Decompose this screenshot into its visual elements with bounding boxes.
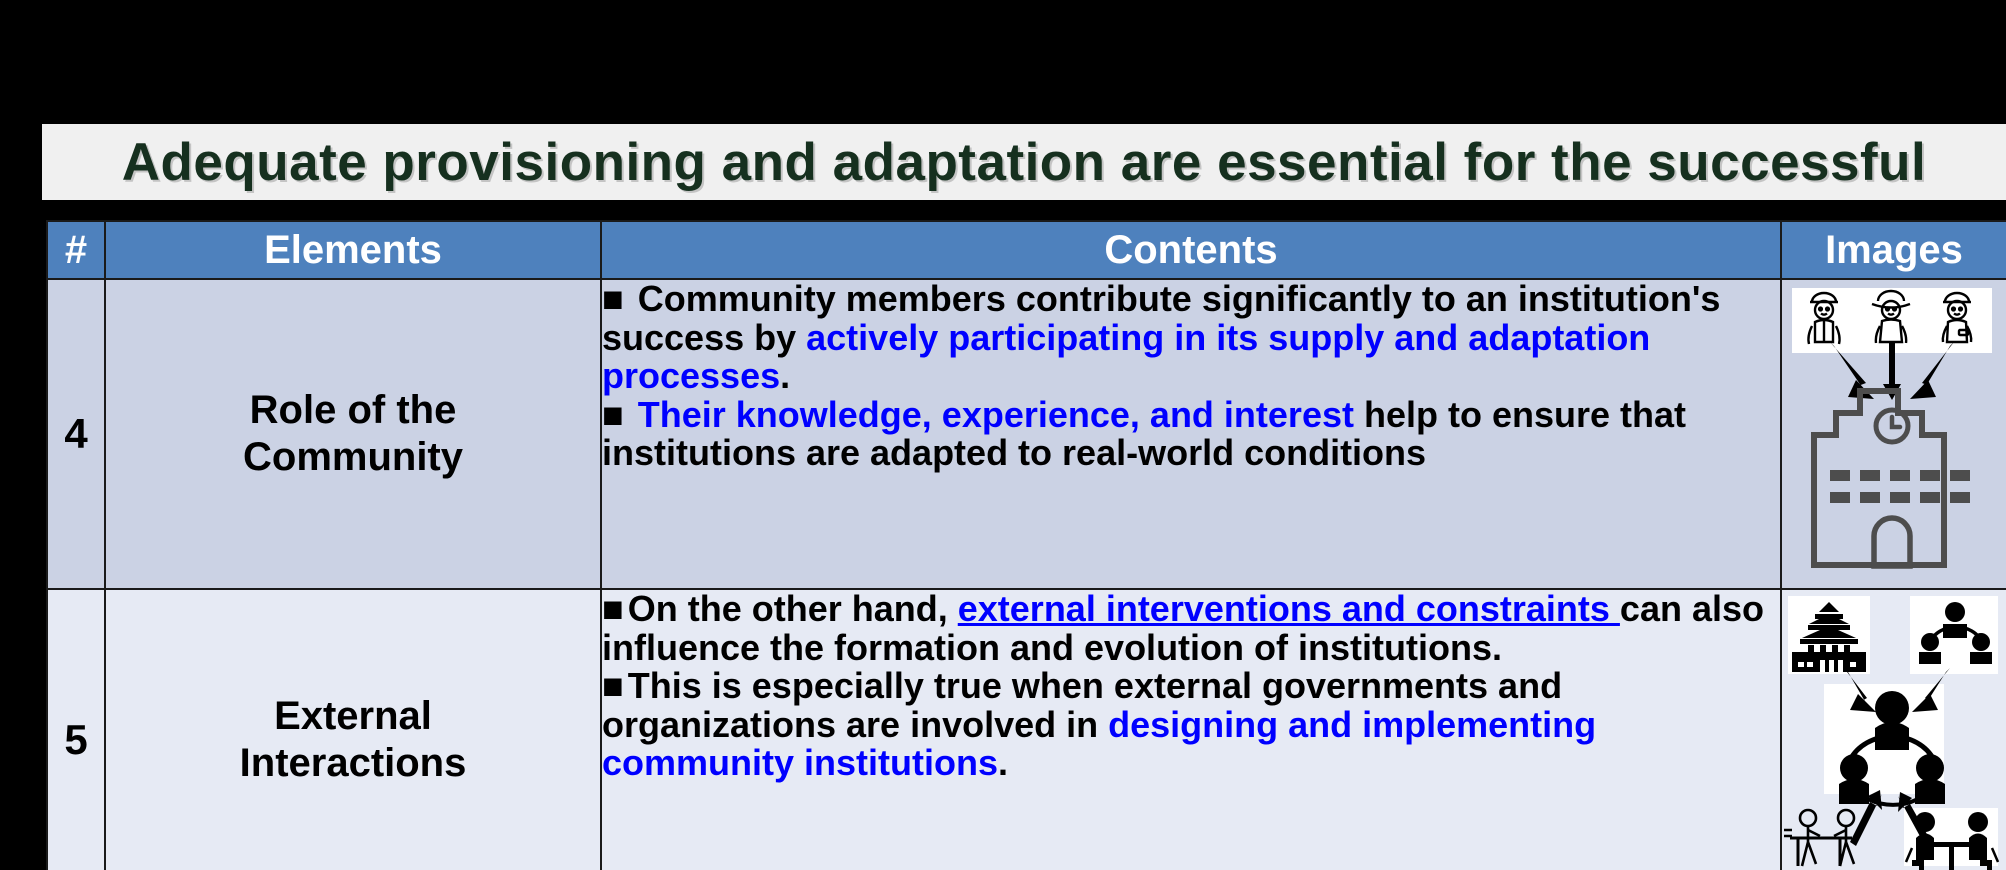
building-detail-icons <box>1830 410 1970 566</box>
row-contents-cell: ■Community members contribute significan… <box>601 279 1781 589</box>
discussion-people-icon <box>1784 810 1854 866</box>
bullet-square-icon: ■ <box>602 667 624 706</box>
slide-canvas: Adequate provisioning and adaptation are… <box>0 0 2006 870</box>
column-header-num: # <box>47 221 105 279</box>
external-interactions-svg <box>1782 590 2004 870</box>
bullet-text-highlight-underline: external interventions and constraints <box>958 588 1620 629</box>
external-interactions-diagram <box>1782 590 2006 870</box>
row-element-cell: External Interactions <box>105 589 601 870</box>
row-element-cell: Role of the Community <box>105 279 601 589</box>
bullet-item: ■Community members contribute significan… <box>602 280 1780 396</box>
element-label-line1: External <box>106 693 600 740</box>
row-number-cell: 4 <box>47 279 105 589</box>
bullet-item: ■Their knowledge, experience, and intere… <box>602 396 1780 473</box>
row-number-cell: 5 <box>47 589 105 870</box>
column-header-images: Images <box>1781 221 2006 279</box>
bullet-text-period: . <box>780 355 790 396</box>
slide-title-box: Adequate provisioning and adaptation are… <box>42 124 2006 200</box>
row-contents-cell: ■On the other hand, external interventio… <box>601 589 1781 870</box>
element-label-line2: Interactions <box>106 740 600 787</box>
element-label-line2: Community <box>106 434 600 481</box>
community-to-institution-diagram <box>1782 280 2006 588</box>
page-title: Adequate provisioning and adaptation are… <box>122 132 1927 193</box>
column-header-elements: Elements <box>105 221 601 279</box>
community-institution-svg <box>1782 280 2004 588</box>
table-header-row: # Elements Contents Images <box>47 221 2006 279</box>
bullet-square-icon: ■ <box>602 280 624 319</box>
bullet-text-highlight: Their knowledge, experience, and interes… <box>638 394 1354 435</box>
element-label-line1: Role of the <box>106 387 600 434</box>
table-row: 4 Role of the Community ■Community membe… <box>47 279 2006 589</box>
bullet-square-icon: ■ <box>602 590 624 629</box>
bullet-text-period: . <box>998 742 1008 783</box>
row-image-cell <box>1781 589 2006 870</box>
row-image-cell <box>1781 279 2006 589</box>
bullet-item: ■On the other hand, external interventio… <box>602 590 1780 667</box>
content-table: # Elements Contents Images 4 Role of the… <box>44 218 2004 854</box>
table-row: 5 External Interactions ■On the other ha… <box>47 589 2006 870</box>
bullet-item: ■This is especially true when external g… <box>602 667 1780 783</box>
bullet-text-black: On the other hand, <box>628 588 958 629</box>
column-header-contents: Contents <box>601 221 1781 279</box>
bullet-square-icon: ■ <box>602 396 624 435</box>
